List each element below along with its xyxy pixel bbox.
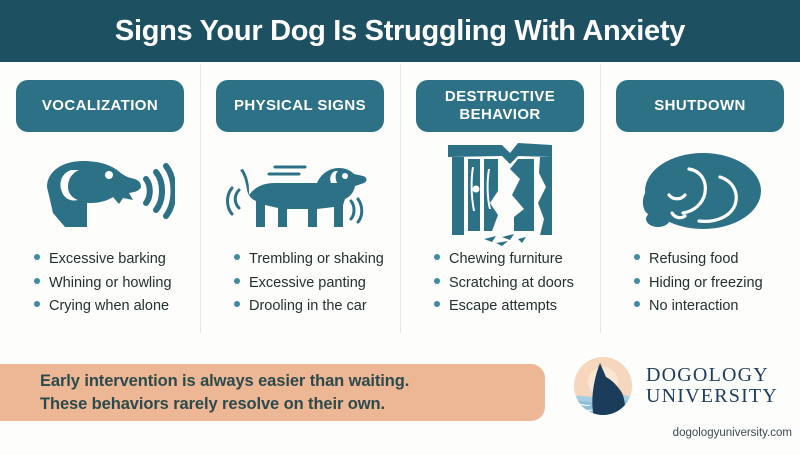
column-shutdown: SHUTDOWN — [600, 62, 800, 345]
brand-wordmark: DOGOLOGY UNIVERSITY — [646, 365, 778, 406]
list-item: Trembling or shaking — [234, 252, 400, 267]
bullet-list-shutdown: Refusing food Hiding or freezing No inte… — [600, 252, 800, 323]
brand-row: DOGOLOGY UNIVERSITY — [572, 351, 800, 421]
bullet-dot-icon — [34, 254, 40, 260]
brand-name-line-1: DOGOLOGY — [646, 365, 778, 386]
list-item-label: Hiding or freezing — [649, 276, 763, 291]
curled-sleeping-dog-icon — [610, 134, 790, 252]
dog-head-circle-logo — [572, 355, 634, 417]
cta-line-2: These behaviors rarely resolve on their … — [40, 393, 545, 415]
barking-dog-head-icon — [10, 134, 190, 252]
list-item-label: Refusing food — [649, 252, 738, 267]
bullet-dot-icon — [634, 254, 640, 260]
column-heading-physical-signs: PHYSICAL SIGNS — [216, 80, 384, 132]
column-destructive-behavior: DESTRUCTIVE BEHAVIOR — [400, 62, 600, 345]
list-item-label: Whining or howling — [49, 276, 172, 291]
list-item-label: Excessive barking — [49, 252, 166, 267]
header-bar: Signs Your Dog Is Struggling With Anxiet… — [0, 0, 800, 62]
list-item: Chewing furniture — [434, 252, 600, 267]
bullet-dot-icon — [234, 254, 240, 260]
list-item-label: Crying when alone — [49, 299, 169, 314]
trembling-dog-body-icon — [210, 134, 390, 252]
bullet-dot-icon — [34, 278, 40, 284]
bullet-dot-icon — [34, 301, 40, 307]
bullet-dot-icon — [634, 278, 640, 284]
column-heading-shutdown: SHUTDOWN — [616, 80, 784, 132]
list-item-label: Excessive panting — [249, 276, 366, 291]
list-item: Refusing food — [634, 252, 800, 267]
footer: Early intervention is always easier than… — [0, 345, 800, 455]
bullet-dot-icon — [634, 301, 640, 307]
infographic-root: Signs Your Dog Is Struggling With Anxiet… — [0, 0, 800, 455]
list-item-label: No interaction — [649, 299, 738, 314]
list-item: Excessive barking — [34, 252, 200, 267]
column-physical-signs: PHYSICAL SIGNS — [200, 62, 400, 345]
list-item-label: Scratching at doors — [449, 276, 574, 291]
bullet-dot-icon — [234, 301, 240, 307]
bullet-list-physical-signs: Trembling or shaking Excessive panting D… — [200, 252, 400, 323]
page-title: Signs Your Dog Is Struggling With Anxiet… — [115, 15, 685, 48]
cta-banner: Early intervention is always easier than… — [0, 364, 545, 421]
list-item: Crying when alone — [34, 299, 200, 314]
column-heading-vocalization: VOCALIZATION — [16, 80, 184, 132]
list-item-label: Escape attempts — [449, 299, 557, 314]
cta-line-1: Early intervention is always easier than… — [40, 370, 545, 392]
list-item: Whining or howling — [34, 276, 200, 291]
list-item: Excessive panting — [234, 276, 400, 291]
bullet-dot-icon — [234, 278, 240, 284]
bullet-dot-icon — [434, 278, 440, 284]
brand-name-line-2: UNIVERSITY — [646, 386, 778, 407]
columns-container: VOCALIZATION — [0, 62, 800, 345]
list-item-label: Drooling in the car — [249, 299, 367, 314]
list-item: Escape attempts — [434, 299, 600, 314]
list-item: No interaction — [634, 299, 800, 314]
list-item-label: Trembling or shaking — [249, 252, 384, 267]
list-item: Scratching at doors — [434, 276, 600, 291]
column-heading-destructive-behavior: DESTRUCTIVE BEHAVIOR — [416, 80, 584, 132]
brand-block: DOGOLOGY UNIVERSITY dogologyuniversity.c… — [572, 351, 800, 451]
chewed-furniture-icon — [410, 134, 590, 252]
brand-url: dogologyuniversity.com — [572, 427, 800, 439]
column-vocalization: VOCALIZATION — [0, 62, 200, 345]
bullet-list-vocalization: Excessive barking Whining or howling Cry… — [0, 252, 200, 323]
list-item: Drooling in the car — [234, 299, 400, 314]
bullet-dot-icon — [434, 301, 440, 307]
list-item-label: Chewing furniture — [449, 252, 563, 267]
bullet-dot-icon — [434, 254, 440, 260]
list-item: Hiding or freezing — [634, 276, 800, 291]
bullet-list-destructive-behavior: Chewing furniture Scratching at doors Es… — [400, 252, 600, 323]
